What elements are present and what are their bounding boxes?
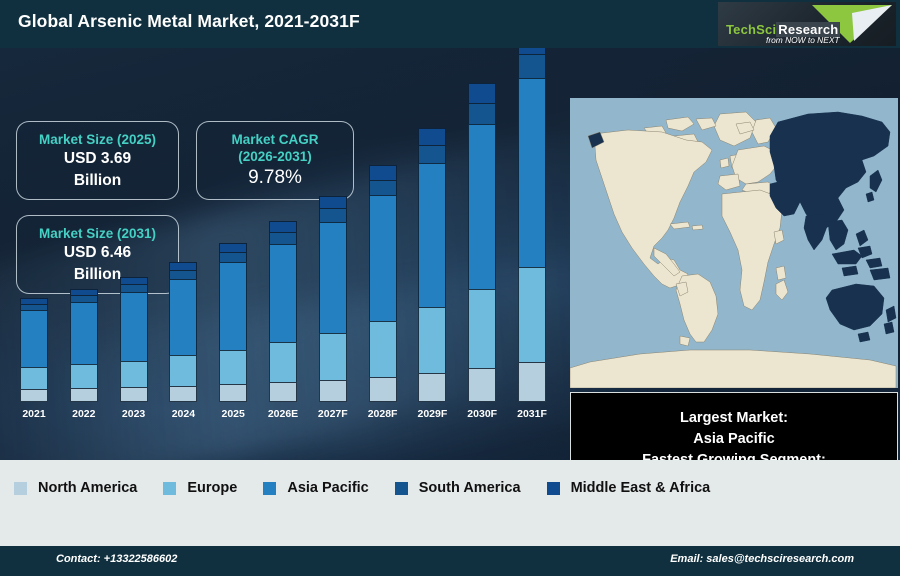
bar-segment [120,292,148,361]
logo-tagline: from NOW to NEXT [766,35,840,45]
x-axis-tick-label: 2031F [503,408,561,420]
bar-segment [269,342,297,382]
chart-legend: North AmericaEuropeAsia PacificSouth Ame… [0,460,900,516]
bar-segment [319,208,347,222]
bar-segment [518,267,546,362]
stacked-bar-chart: 202120222023202420252026E2027F2028F2029F… [0,48,568,460]
bar-segment [468,124,496,289]
bar-segment [418,373,446,402]
bar-segment [169,262,197,270]
bar-segment [219,262,247,349]
bar-segment [518,78,546,268]
bar-segment [120,277,148,284]
bar-column [468,83,496,402]
world-map-svg [570,98,898,388]
bar-column [219,243,247,402]
bar-segment [219,243,247,252]
bar-column [418,128,446,402]
largest-market-value: Asia Pacific [693,429,774,450]
bar-segment [20,367,48,389]
bar-segment [70,388,98,402]
legend-label: Middle East & Africa [571,480,711,496]
bar-segment [70,302,98,364]
bar-column [70,289,98,402]
chart-stage: Market Size (2025) USD 3.69 Billion Mark… [0,48,900,460]
bar-column [169,262,197,402]
bar-segment [319,222,347,333]
bar-column [319,196,347,402]
bar-column [518,48,546,402]
bar-segment [319,196,347,209]
bar-segment [319,380,347,402]
bar-segment [169,270,197,279]
legend-item[interactable]: South America [395,480,521,496]
bar-segment [369,180,397,196]
legend-label: Asia Pacific [287,480,368,496]
bar-segment [70,295,98,302]
legend-swatch-icon [547,482,560,495]
bar-column [269,221,297,402]
fastest-segment-label: Fastest Growing Segment: [642,450,826,460]
legend-item[interactable]: North America [14,480,137,496]
x-axis: 202120222023202420252026E2027F2028F2029F… [14,406,562,428]
bar-segment [219,384,247,402]
bar-segment [20,389,48,402]
bar-segment [269,382,297,402]
bar-segment [269,244,297,342]
bar-segment [120,387,148,402]
legend-swatch-icon [395,482,408,495]
bar-segment [269,232,297,244]
chart-plot-area [14,72,562,402]
legend-label: North America [38,480,137,496]
bar-segment [219,350,247,384]
bar-segment [518,362,546,402]
legend-item[interactable]: Middle East & Africa [547,480,711,496]
footer-bar: Contact: +13322586602 Email: sales@techs… [0,546,900,576]
bar-column [369,165,397,402]
largest-market-label: Largest Market: [680,408,788,429]
legend-item[interactable]: Europe [163,480,237,496]
bar-segment [169,279,197,356]
world-map [570,98,898,388]
bar-segment [369,377,397,402]
bar-segment [369,321,397,376]
bar-segment [120,284,148,292]
footer-contact: Contact: +13322586602 [56,553,177,565]
legend-label: South America [419,480,521,496]
bar-segment [369,195,397,321]
bar-segment [169,355,197,385]
bar-segment [20,310,48,368]
page-title: Global Arsenic Metal Market, 2021-2031F [18,11,360,32]
legend-label: Europe [187,480,237,496]
bar-segment [468,368,496,402]
bar-segment [369,165,397,180]
bar-column [20,298,48,402]
bar-segment [418,307,446,373]
bar-segment [120,361,148,387]
bar-segment [319,333,347,380]
market-highlights-box: Largest Market: Asia Pacific Fastest Gro… [570,392,898,460]
infographic-page: Global Arsenic Metal Market, 2021-2031F … [0,0,900,576]
bar-segment [518,54,546,78]
bar-segment [418,128,446,145]
bar-segment [468,289,496,368]
bar-segment [70,364,98,388]
legend-swatch-icon [163,482,176,495]
bar-segment [418,145,446,163]
header-bar: Global Arsenic Metal Market, 2021-2031F … [0,0,900,48]
bar-segment [468,103,496,124]
legend-swatch-icon [263,482,276,495]
legend-swatch-icon [14,482,27,495]
legend-item[interactable]: Asia Pacific [263,480,368,496]
bar-segment [418,163,446,307]
bar-column [120,277,148,402]
footer-email: Email: sales@techsciresearch.com [670,553,854,565]
bar-segment [468,83,496,103]
techsci-research-logo: TechSciResearch from NOW to NEXT [718,2,896,46]
bar-segment [169,386,197,403]
bar-segment [269,221,297,232]
bar-segment [219,252,247,262]
